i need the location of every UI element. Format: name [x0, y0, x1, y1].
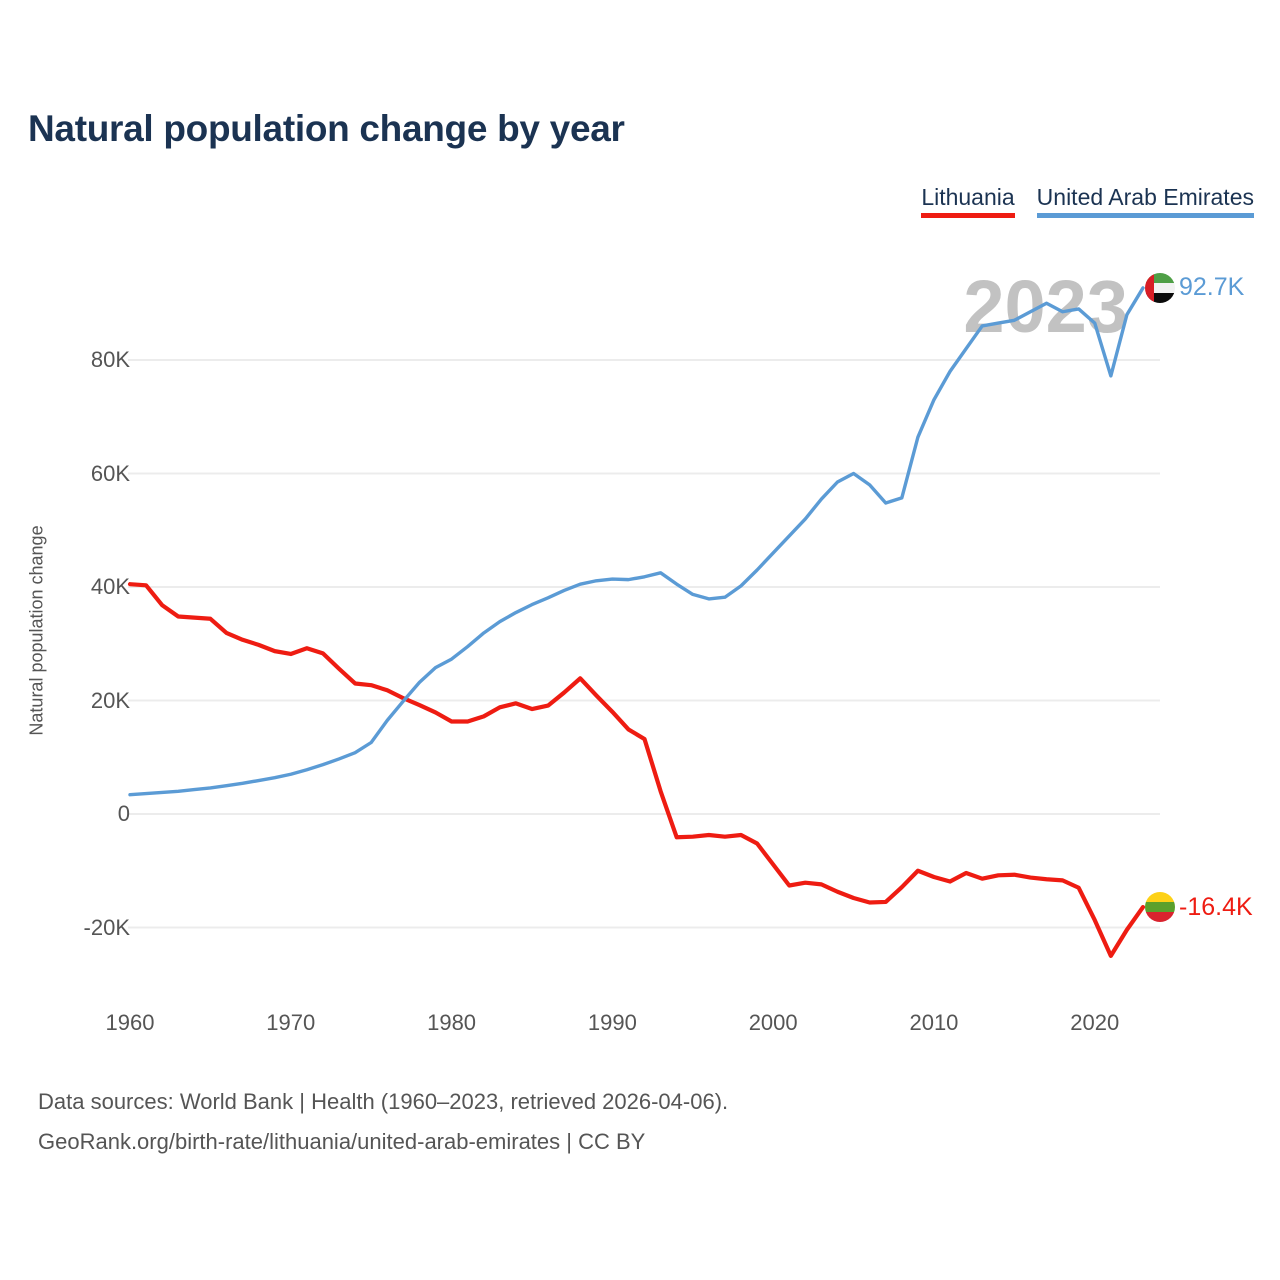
x-tick-label: 1990: [588, 1010, 637, 1036]
y-tick-label: 0: [40, 801, 130, 827]
x-tick-label: 1980: [427, 1010, 476, 1036]
x-tick-label: 1970: [266, 1010, 315, 1036]
x-tick-label: 2000: [749, 1010, 798, 1036]
footer: Data sources: World Bank | Health (1960–…: [38, 1082, 728, 1162]
endpoint-value-united-arab-emirates: 92.7K: [1179, 273, 1244, 302]
x-tick-label: 1960: [106, 1010, 155, 1036]
lithuania-flag-icon: [1145, 892, 1175, 922]
y-axis-title: Natural population change: [27, 511, 48, 751]
footer-line-sources: Data sources: World Bank | Health (1960–…: [38, 1082, 728, 1122]
series-line-lithuania: [130, 584, 1143, 956]
y-tick-label: -20K: [40, 915, 130, 941]
y-tick-label: 40K: [40, 574, 130, 600]
endpoint-lithuania: -16.4K: [1145, 892, 1253, 922]
uae-flag-icon: [1145, 273, 1175, 303]
x-tick-label: 2010: [909, 1010, 958, 1036]
footer-line-attribution: GeoRank.org/birth-rate/lithuania/united-…: [38, 1122, 728, 1162]
endpoint-united-arab-emirates: 92.7K: [1145, 273, 1244, 303]
endpoint-value-lithuania: -16.4K: [1179, 893, 1253, 922]
y-tick-label: 20K: [40, 688, 130, 714]
y-tick-label: 60K: [40, 461, 130, 487]
chart-container: Natural population change by year Lithua…: [0, 0, 1280, 1280]
x-tick-label: 2020: [1070, 1010, 1119, 1036]
series-line-united-arab-emirates: [130, 288, 1143, 795]
y-tick-label: 80K: [40, 347, 130, 373]
